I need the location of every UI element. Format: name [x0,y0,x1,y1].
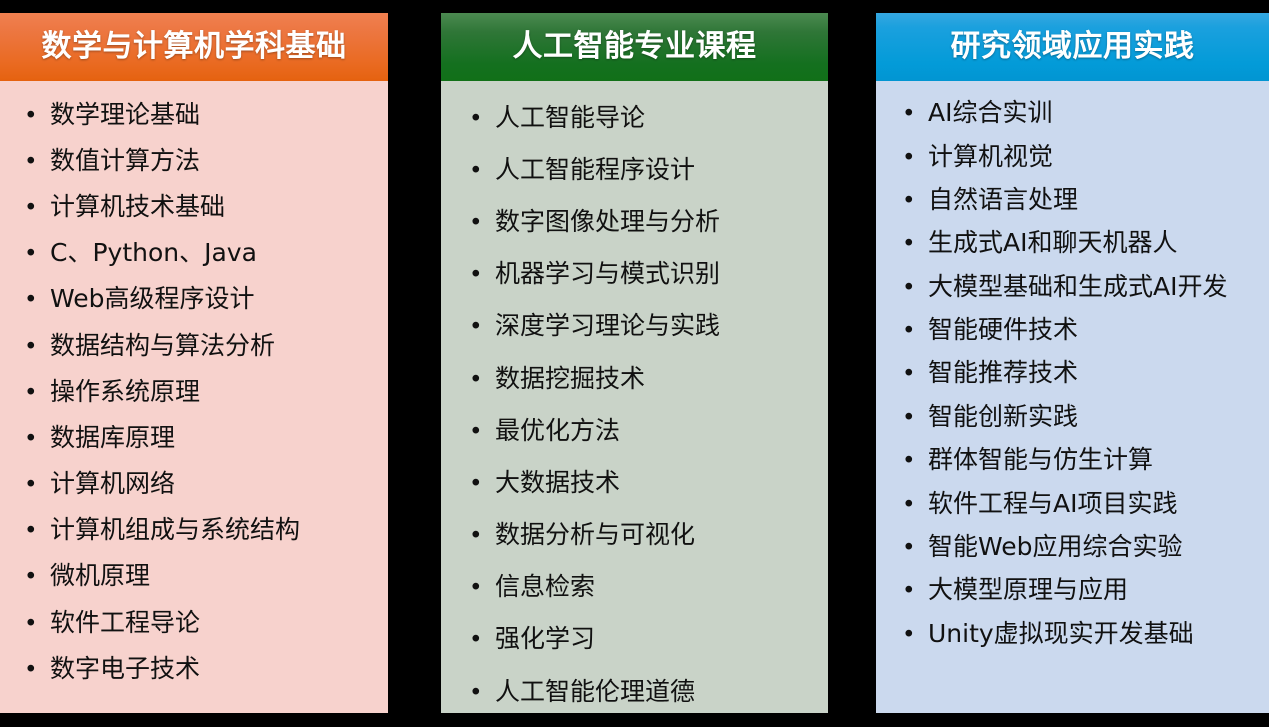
bullet-dot-icon: • [902,320,928,343]
bullet-dot-icon: • [469,682,495,705]
list-item: • 数学理论基础 [6,91,382,137]
list-item: • 智能推荐技术 [882,351,1263,394]
bullet-dot-icon: • [902,147,928,170]
bullet-dot-icon: • [24,428,50,451]
list-item: • 群体智能与仿生计算 [882,438,1263,481]
list-item: • 强化学习 [447,613,822,665]
bullet-dot-icon: • [902,277,928,300]
list-item-label: 人工智能程序设计 [495,156,695,183]
bullet-dot-icon: • [24,336,50,359]
bullet-dot-icon: • [902,580,928,603]
column-title-text: 研究领域应用实践 [951,32,1195,62]
list-item: • 智能Web应用综合实验 [882,525,1263,568]
list-item: • 计算机技术基础 [6,183,382,229]
column-title-text: 数学与计算机学科基础 [42,32,347,62]
list-item: • C、Python、Java [6,230,382,276]
list-item-label: 最优化方法 [495,417,620,444]
list-item-label: 数字图像处理与分析 [495,208,720,235]
three-column-curriculum-board: 数学与计算机学科基础 • 数学理论基础 • 数值计算方法 • 计算机技术基础 • [0,0,1269,727]
bullet-dot-icon: • [469,212,495,235]
list-item-label: 计算机视觉 [928,143,1053,170]
list-item-label: 大模型基础和生成式AI开发 [928,273,1227,300]
bullet-dot-icon: • [24,566,50,589]
bullet-dot-icon: • [24,151,50,174]
list-item-label: 软件工程导论 [50,609,200,636]
bullet-dot-icon: • [902,190,928,213]
list-item: • 数据库原理 [6,414,382,460]
list-item: • 计算机视觉 [882,134,1263,177]
column-header-research-application-practice: 研究领域应用实践 [876,13,1269,81]
list-item-label: 深度学习理论与实践 [495,312,720,339]
list-item-label: 软件工程与AI项目实践 [928,490,1177,517]
course-list-research-application-practice: • AI综合实训 • 计算机视觉 • 自然语言处理 • 生成式AI和聊天机器人 … [882,91,1263,655]
list-item-label: 智能硬件技术 [928,316,1078,343]
column-research-application-practice: 研究领域应用实践 • AI综合实训 • 计算机视觉 • 自然语言处理 • 生成式 [876,13,1269,713]
column-body-math-cs-foundation: • 数学理论基础 • 数值计算方法 • 计算机技术基础 • C、Python、J… [0,81,388,713]
list-item-label: 数据结构与算法分析 [50,332,275,359]
bullet-dot-icon: • [469,264,495,287]
bullet-dot-icon: • [24,289,50,312]
bullet-dot-icon: • [24,613,50,636]
bullet-dot-icon: • [469,316,495,339]
list-item: • Web高级程序设计 [6,276,382,322]
list-item: • 数据挖掘技术 [447,352,822,404]
list-item-label: 计算机技术基础 [50,193,225,220]
list-item: • 生成式AI和聊天机器人 [882,221,1263,264]
list-item: • 微机原理 [6,553,382,599]
list-item: • 最优化方法 [447,404,822,456]
bullet-dot-icon: • [24,659,50,682]
list-item-label: Web高级程序设计 [50,285,255,312]
bullet-dot-icon: • [24,520,50,543]
list-item: • AI综合实训 [882,91,1263,134]
list-item-label: 数值计算方法 [50,147,200,174]
list-item-label: 机器学习与模式识别 [495,260,720,287]
list-item-label: 智能推荐技术 [928,359,1078,386]
list-item-label: 数据分析与可视化 [495,521,695,548]
list-item-label: 群体智能与仿生计算 [928,446,1153,473]
column-body-research-application-practice: • AI综合实训 • 计算机视觉 • 自然语言处理 • 生成式AI和聊天机器人 … [876,81,1269,713]
list-item-label: 智能创新实践 [928,403,1078,430]
list-item-label: 强化学习 [495,625,595,652]
course-list-ai-major-courses: • 人工智能导论 • 人工智能程序设计 • 数字图像处理与分析 • 机器学习与模… [447,91,822,713]
list-item: • 人工智能导论 [447,91,822,143]
bullet-dot-icon: • [902,407,928,430]
list-item-label: 大模型原理与应用 [928,576,1128,603]
bullet-dot-icon: • [902,233,928,256]
list-item: • 软件工程与AI项目实践 [882,481,1263,524]
bullet-dot-icon: • [469,473,495,496]
list-item: • 软件工程导论 [6,599,382,645]
list-item: • 人工智能程序设计 [447,143,822,195]
column-ai-major-courses: 人工智能专业课程 • 人工智能导论 • 人工智能程序设计 • 数字图像处理与分析… [441,13,828,713]
bullet-dot-icon: • [902,450,928,473]
list-item: • 操作系统原理 [6,368,382,414]
bullet-dot-icon: • [24,474,50,497]
bullet-dot-icon: • [902,537,928,560]
list-item: • 智能创新实践 [882,395,1263,438]
list-item: • 大模型原理与应用 [882,568,1263,611]
list-item: • 大模型基础和生成式AI开发 [882,265,1263,308]
list-item: • 数值计算方法 [6,137,382,183]
list-item: • 计算机网络 [6,461,382,507]
list-item-label: 信息检索 [495,573,595,600]
bullet-dot-icon: • [469,629,495,652]
list-item: • 自然语言处理 [882,178,1263,221]
list-item: • 计算机组成与系统结构 [6,507,382,553]
list-item: • Unity虚拟现实开发基础 [882,612,1263,655]
course-list-math-cs-foundation: • 数学理论基础 • 数值计算方法 • 计算机技术基础 • C、Python、J… [6,91,382,691]
list-item-label: 数据库原理 [50,424,175,451]
list-item-label: 人工智能伦理道德 [495,678,695,705]
bullet-dot-icon: • [469,160,495,183]
column-title-text: 人工智能专业课程 [513,32,757,62]
list-item-label: 操作系统原理 [50,378,200,405]
bullet-dot-icon: • [902,494,928,517]
list-item: • 深度学习理论与实践 [447,300,822,352]
list-item: • 大数据技术 [447,456,822,508]
bullet-dot-icon: • [24,243,50,266]
list-item: • 机器学习与模式识别 [447,248,822,300]
list-item-label: 自然语言处理 [928,186,1078,213]
list-item: • 信息检索 [447,561,822,613]
list-item-label: AI综合实训 [928,99,1052,126]
bullet-dot-icon: • [24,105,50,128]
bullet-dot-icon: • [24,197,50,220]
list-item: • 数字图像处理与分析 [447,195,822,247]
bullet-dot-icon: • [469,108,495,131]
column-body-ai-major-courses: • 人工智能导论 • 人工智能程序设计 • 数字图像处理与分析 • 机器学习与模… [441,81,828,713]
list-item: • 智能硬件技术 [882,308,1263,351]
bullet-dot-icon: • [469,577,495,600]
list-item-label: 计算机网络 [50,470,175,497]
bullet-dot-icon: • [902,103,928,126]
bullet-dot-icon: • [902,624,928,647]
bullet-dot-icon: • [902,363,928,386]
list-item: • 人工智能伦理道德 [447,665,822,713]
list-item-label: 微机原理 [50,562,150,589]
list-item: • 数字电子技术 [6,645,382,691]
list-item-label: 计算机组成与系统结构 [50,516,300,543]
bullet-dot-icon: • [469,369,495,392]
list-item-label: 智能Web应用综合实验 [928,533,1183,560]
column-header-math-cs-foundation: 数学与计算机学科基础 [0,13,388,81]
column-header-ai-major-courses: 人工智能专业课程 [441,13,828,81]
bullet-dot-icon: • [469,421,495,444]
list-item: • 数据结构与算法分析 [6,322,382,368]
list-item-label: 大数据技术 [495,469,620,496]
bullet-dot-icon: • [24,382,50,405]
list-item: • 数据分析与可视化 [447,509,822,561]
list-item-label: 数字电子技术 [50,655,200,682]
list-item-label: 生成式AI和聊天机器人 [928,229,1177,256]
list-item-label: 人工智能导论 [495,104,645,131]
list-item-label: Unity虚拟现实开发基础 [928,620,1194,647]
bullet-dot-icon: • [469,525,495,548]
list-item-label: 数学理论基础 [50,101,200,128]
column-math-cs-foundation: 数学与计算机学科基础 • 数学理论基础 • 数值计算方法 • 计算机技术基础 • [0,13,388,713]
list-item-label: 数据挖掘技术 [495,365,645,392]
list-item-label: C、Python、Java [50,239,257,266]
